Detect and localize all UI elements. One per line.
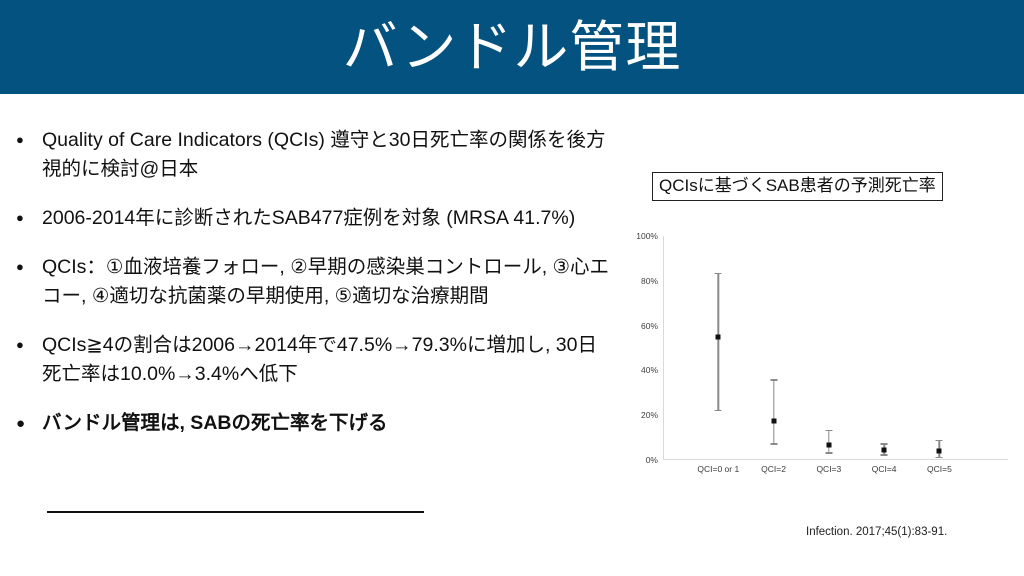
error-bar-cap — [770, 379, 777, 380]
y-axis-tick-label: 60% — [618, 321, 658, 331]
conclusion-underline — [47, 511, 424, 513]
y-axis-tick-label: 0% — [618, 455, 658, 465]
list-item: ● Quality of Care Indicators (QCIs) 遵守と3… — [16, 126, 616, 184]
error-bar-cap — [936, 440, 943, 441]
list-item: ● 2006-2014年に診断されたSAB477症例を対象 (MRSA 41.7… — [16, 204, 616, 233]
list-item-conclusion: ● バンドル管理は, SABの死亡率を下げる — [16, 409, 616, 438]
y-axis-line — [663, 236, 664, 460]
x-axis-line — [663, 459, 1008, 460]
citation-text: Infection. 2017;45(1):83-91. — [806, 526, 947, 538]
x-axis-tick-label: QCI=4 — [872, 464, 897, 474]
bullet-dot-icon: ● — [16, 409, 42, 431]
y-axis-tick-label: 20% — [618, 410, 658, 420]
list-item: ● QCIs≧4の割合は2006→2014年で47.5%→79.3%に増加し, … — [16, 331, 616, 389]
error-bar-cap — [881, 454, 888, 455]
error-bar-cap — [936, 457, 943, 458]
page-title: バンドル管理 — [343, 20, 682, 75]
list-item: ● QCIs：①血液培養フォロー, ②早期の感染巣コントロール, ③心エコー, … — [16, 253, 616, 311]
error-bar-cap — [770, 443, 777, 444]
data-point — [882, 447, 887, 452]
error-bar — [828, 430, 829, 452]
error-bar-cap — [715, 273, 722, 274]
y-axis-tick-label: 100% — [618, 231, 658, 241]
y-axis-tick-label: 80% — [618, 276, 658, 286]
data-point — [826, 443, 831, 448]
chart-caption-box: QCIsに基づくSAB患者の予測死亡率 — [652, 172, 943, 201]
error-bar — [773, 379, 774, 443]
bullet-dot-icon: ● — [16, 253, 42, 273]
data-point — [937, 449, 942, 454]
mortality-error-bar-chart: 0%20%40%60%80%100% QCI=0 or 1QCI=2QCI=3Q… — [618, 228, 1010, 478]
bullet-dot-icon: ● — [16, 331, 42, 351]
title-banner: バンドル管理 — [0, 0, 1024, 94]
list-item-text: Quality of Care Indicators (QCIs) 遵守と30日… — [42, 126, 616, 184]
x-axis-tick-label: QCI=2 — [761, 464, 786, 474]
error-bar-cap — [715, 410, 722, 411]
error-bar-cap — [881, 443, 888, 444]
chart-caption-text: QCIsに基づくSAB患者の予測死亡率 — [659, 176, 936, 196]
list-item-text: 2006-2014年に診断されたSAB477症例を対象 (MRSA 41.7%) — [42, 204, 616, 233]
data-point — [716, 334, 721, 339]
x-axis-tick-label: QCI=3 — [816, 464, 841, 474]
x-axis-tick-label: QCI=0 or 1 — [697, 464, 739, 474]
y-axis-tick-label: 40% — [618, 365, 658, 375]
error-bar — [718, 273, 719, 410]
list-item-text: バンドル管理は, SABの死亡率を下げる — [42, 409, 616, 438]
bullet-dot-icon: ● — [16, 126, 42, 146]
x-axis-tick-label: QCI=5 — [927, 464, 952, 474]
list-item-text: QCIs≧4の割合は2006→2014年で47.5%→79.3%に増加し, 30… — [42, 331, 616, 389]
data-point — [771, 418, 776, 423]
list-item-text: QCIs：①血液培養フォロー, ②早期の感染巣コントロール, ③心エコー, ④適… — [42, 253, 616, 311]
slide: バンドル管理 ● Quality of Care Indicators (QCI… — [0, 0, 1024, 576]
error-bar-cap — [825, 430, 832, 431]
error-bar-cap — [825, 452, 832, 453]
bullet-list: ● Quality of Care Indicators (QCIs) 遵守と3… — [16, 126, 616, 438]
bullet-dot-icon: ● — [16, 204, 42, 224]
